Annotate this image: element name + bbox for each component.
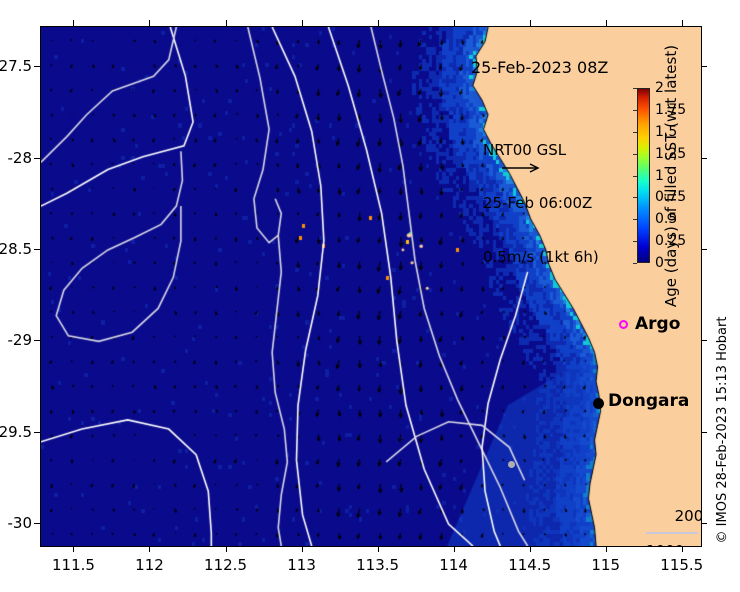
xtick-top bbox=[226, 20, 227, 26]
colorbar-tick bbox=[633, 219, 637, 220]
colorbar-tick bbox=[633, 88, 637, 89]
ytick-right bbox=[701, 340, 707, 341]
ytick-left bbox=[34, 158, 40, 159]
vector-time-label: 25-Feb 06:00Z bbox=[483, 195, 599, 213]
dongara-marker-icon[interactable] bbox=[593, 398, 604, 409]
ytick-label: -27.5 bbox=[0, 57, 32, 75]
xtick-top bbox=[530, 20, 531, 26]
colorbar[interactable]: 00.250.50.7511.251.51.752 bbox=[637, 88, 650, 263]
colorbar-tick bbox=[633, 110, 637, 111]
colorbar-tick bbox=[633, 154, 637, 155]
ytick-left bbox=[34, 432, 40, 433]
depth-key: 200m 1000m bbox=[646, 490, 702, 547]
ytick-label: -30 bbox=[8, 514, 33, 532]
depth-key-deep: 1000m bbox=[646, 543, 702, 547]
argo-marker-icon[interactable] bbox=[619, 320, 628, 329]
xtick-bottom bbox=[149, 546, 150, 552]
ytick-right bbox=[701, 432, 707, 433]
xtick-label: 115.5 bbox=[660, 556, 703, 574]
map-axes[interactable]: 25-Feb-2023 08Z NRT00 GSL 25-Feb 06:00Z … bbox=[40, 26, 702, 547]
xtick-label: 111.5 bbox=[52, 556, 95, 574]
vector-legend: NRT00 GSL 25-Feb 06:00Z 0.5m/s (1kt 6h) bbox=[483, 107, 599, 302]
xtick-bottom bbox=[73, 546, 74, 552]
argo-label: Argo bbox=[635, 314, 680, 334]
xtick-bottom bbox=[226, 546, 227, 552]
xtick-top bbox=[454, 20, 455, 26]
ytick-left bbox=[34, 523, 40, 524]
colorbar-tick bbox=[633, 132, 637, 133]
xtick-label: 113 bbox=[287, 556, 316, 574]
ytick-right bbox=[701, 249, 707, 250]
ytick-label: -28 bbox=[8, 149, 33, 167]
xtick-bottom bbox=[454, 546, 455, 552]
colorbar-gradient bbox=[637, 88, 650, 263]
xtick-label: 114 bbox=[439, 556, 468, 574]
dongara-label: Dongara bbox=[608, 391, 689, 411]
figure-root: 25-Feb-2023 08Z NRT00 GSL 25-Feb 06:00Z … bbox=[0, 0, 740, 592]
ytick-left bbox=[34, 340, 40, 341]
ytick-right bbox=[701, 66, 707, 67]
xtick-top bbox=[682, 20, 683, 26]
xtick-label: 112 bbox=[135, 556, 164, 574]
timestamp-label: 25-Feb-2023 08Z bbox=[471, 59, 608, 78]
vector-source-label: NRT00 GSL bbox=[483, 142, 599, 160]
xtick-top bbox=[73, 20, 74, 26]
xtick-top bbox=[606, 20, 607, 26]
colorbar-tick bbox=[633, 241, 637, 242]
xtick-top bbox=[378, 20, 379, 26]
colorbar-tick bbox=[633, 197, 637, 198]
station-marker-icon[interactable] bbox=[508, 461, 515, 468]
xtick-label: 114.5 bbox=[508, 556, 551, 574]
ytick-label: -28.5 bbox=[0, 240, 32, 258]
xtick-bottom bbox=[302, 546, 303, 552]
ytick-label: -29 bbox=[8, 331, 33, 349]
ytick-label: -29.5 bbox=[0, 423, 32, 441]
ytick-right bbox=[701, 523, 707, 524]
sst-age-raster[interactable] bbox=[41, 27, 701, 546]
xtick-label: 115 bbox=[591, 556, 620, 574]
colorbar-tick bbox=[633, 176, 637, 177]
xtick-bottom bbox=[530, 546, 531, 552]
colorbar-tick bbox=[633, 263, 637, 264]
depth-key-rule bbox=[646, 532, 698, 534]
xtick-bottom bbox=[606, 546, 607, 552]
ytick-right bbox=[701, 158, 707, 159]
ytick-left bbox=[34, 249, 40, 250]
xtick-bottom bbox=[378, 546, 379, 552]
xtick-top bbox=[149, 20, 150, 26]
xtick-label: 112.5 bbox=[204, 556, 247, 574]
xtick-bottom bbox=[682, 546, 683, 552]
xtick-top bbox=[302, 20, 303, 26]
colorbar-title: Age (days) of filled SST (wrt latest) bbox=[662, 45, 680, 307]
credit-label: © IMOS 28-Feb-2023 15:13 Hobart bbox=[715, 317, 730, 544]
depth-key-shallow: 200m bbox=[675, 507, 702, 525]
vector-scale-label: 0.5m/s (1kt 6h) bbox=[483, 249, 599, 267]
xtick-label: 113.5 bbox=[356, 556, 399, 574]
right-arrow-icon bbox=[501, 162, 545, 174]
ytick-left bbox=[34, 66, 40, 67]
